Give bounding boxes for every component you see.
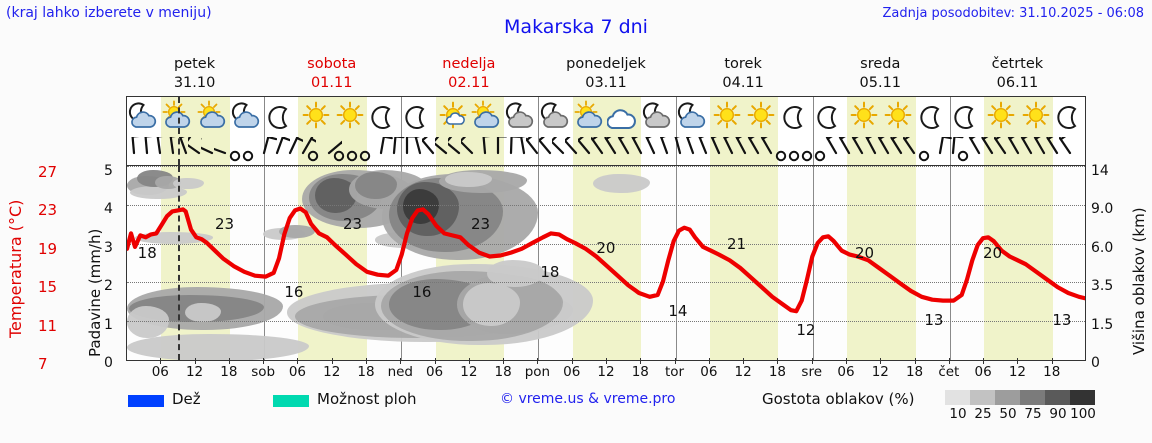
sun-icon	[744, 100, 778, 134]
axis-tick-label: 27	[38, 163, 78, 181]
cloud-density-band	[970, 390, 995, 405]
moon-icon	[1053, 100, 1087, 134]
cloud-density-tick-labels: 1025507590100	[945, 406, 1109, 422]
x-tick-label: 12	[452, 364, 486, 380]
cloud-density-band	[1020, 390, 1045, 405]
temperature-value-label: 23	[215, 215, 234, 233]
sun-icon	[299, 100, 333, 134]
x-tick-mark	[1052, 358, 1053, 364]
x-tick-mark	[503, 358, 504, 364]
temperature-curve	[127, 166, 1086, 361]
day-name: četrtek	[949, 55, 1086, 74]
day-header-2: sobota01.11	[263, 55, 400, 93]
x-tick-label: 18	[760, 364, 794, 380]
axis-tick-label: 3.5	[1091, 278, 1131, 294]
day-header-6: sreda05.11	[812, 55, 949, 93]
day-date: 04.11	[675, 74, 812, 93]
sun-icon	[1019, 100, 1053, 134]
day-date: 31.10	[126, 74, 263, 93]
x-tick-mark	[812, 358, 813, 364]
x-tick-mark	[366, 358, 367, 364]
axis-tick-label: 1.5	[1091, 317, 1131, 333]
temperature-value-label: 23	[471, 215, 490, 233]
x-tick-mark	[709, 358, 710, 364]
x-tick-label: 18	[486, 364, 520, 380]
cloud-density-tick-label: 10	[944, 406, 972, 422]
temperature-value-label: 12	[796, 321, 815, 339]
moon-cloud-grey-icon	[641, 100, 675, 134]
temperature-value-label: 18	[540, 263, 559, 281]
temperature-value-label: 16	[284, 283, 303, 301]
moon-icon	[813, 100, 847, 134]
x-tick-mark	[537, 358, 538, 364]
x-tick-mark	[880, 358, 881, 364]
sun-icon	[881, 100, 915, 134]
axis-tick-label: 7	[38, 355, 78, 373]
cloud-density-tick-label: 25	[969, 406, 997, 422]
sun-icon	[847, 100, 881, 134]
x-tick-label: sob	[246, 364, 280, 380]
day-date: 05.11	[812, 74, 949, 93]
day-name: sreda	[812, 55, 949, 74]
moon-cloud-icon	[127, 100, 161, 134]
temperature-value-label: 23	[343, 215, 362, 233]
moon-icon	[401, 100, 435, 134]
sun-icon	[333, 100, 367, 134]
x-tick-label: tor	[658, 364, 692, 380]
temperature-value-label: 13	[924, 311, 943, 329]
temperature-value-label: 20	[596, 239, 615, 257]
axis-tick-label: 2	[104, 278, 144, 294]
x-tick-label: čet	[932, 364, 966, 380]
temperature-value-label: 13	[1052, 311, 1071, 329]
rain-legend-swatch	[128, 395, 164, 407]
day-header-4: ponedeljek03.11	[537, 55, 674, 93]
wind-barb-icon	[1059, 137, 1083, 165]
temperature-value-label: 20	[983, 244, 1002, 262]
x-tick-mark	[195, 358, 196, 364]
day-date: 02.11	[400, 74, 537, 93]
day-header-row: petek31.10sobota01.11nedelja02.11ponedel…	[126, 55, 1086, 96]
x-tick-label: 18	[898, 364, 932, 380]
x-tick-label: pon	[520, 364, 554, 380]
moon-icon	[779, 100, 813, 134]
axis-tick-label: 4	[104, 201, 144, 217]
day-date: 03.11	[537, 74, 674, 93]
x-tick-mark	[160, 358, 161, 364]
cloud-density-band	[945, 390, 970, 405]
x-tick-label: 18	[212, 364, 246, 380]
axis-tick-label: 3	[104, 240, 144, 256]
axis-tick-label: 9.0	[1091, 201, 1131, 217]
day-name: petek	[126, 55, 263, 74]
last-updated-label: Zadnja posodobitev: 31.10.2025 - 06:08	[882, 6, 1144, 21]
x-tick-mark	[777, 358, 778, 364]
sun-icon	[710, 100, 744, 134]
sun-icon	[984, 100, 1018, 134]
x-axis-tick-labels: 061218sob061218ned061218pon061218tor0612…	[126, 364, 1086, 382]
sun-smallcloud-icon	[436, 100, 470, 134]
day-name: ponedeljek	[537, 55, 674, 74]
axis-tick-label: 1	[104, 317, 144, 333]
day-header-5: torek04.11	[675, 55, 812, 93]
x-tick-label: 12	[589, 364, 623, 380]
x-tick-label: 06	[555, 364, 589, 380]
x-tick-label: 06	[143, 364, 177, 380]
x-tick-mark	[743, 358, 744, 364]
cloud-density-band	[995, 390, 1020, 405]
x-tick-mark	[435, 358, 436, 364]
x-tick-mark	[606, 358, 607, 364]
axis-tick-label: 15	[38, 278, 78, 296]
credit-link[interactable]: © vreme.us & vreme.pro	[500, 391, 675, 407]
sun-cloud-icon	[196, 100, 230, 134]
cloud-density-legend-title: Gostota oblakov (%)	[762, 390, 915, 408]
x-tick-mark	[915, 358, 916, 364]
cloud-density-tick-label: 100	[1069, 406, 1097, 422]
axis-tick-label: 11	[38, 317, 78, 335]
x-tick-label: 06	[418, 364, 452, 380]
precipitation-axis-title: Padavine (mm/h)	[86, 172, 104, 357]
axis-tick-label: 23	[38, 201, 78, 219]
day-name: sobota	[263, 55, 400, 74]
day-date: 06.11	[949, 74, 1086, 93]
day-name: torek	[675, 55, 812, 74]
temperature-value-label: 16	[412, 283, 431, 301]
x-tick-mark	[297, 358, 298, 364]
day-header-1: petek31.10	[126, 55, 263, 93]
cloud-density-color-ramp	[945, 390, 1095, 405]
sun-cloud-icon	[573, 100, 607, 134]
cloud-height-axis-title: Višina oblakov (km)	[1130, 170, 1148, 355]
moon-cloud-icon	[676, 100, 710, 134]
sun-cloud-icon	[470, 100, 504, 134]
cloud-density-tick-label: 50	[994, 406, 1022, 422]
cloud-density-band	[1070, 390, 1095, 405]
axis-tick-label: 0	[1091, 355, 1131, 371]
x-tick-label: 18	[349, 364, 383, 380]
moon-icon	[264, 100, 298, 134]
moon-cloud-icon	[230, 100, 264, 134]
axis-tick-label: 19	[38, 240, 78, 258]
moon-icon	[916, 100, 950, 134]
x-tick-label: 12	[315, 364, 349, 380]
x-tick-label: 18	[1035, 364, 1069, 380]
x-tick-mark	[675, 358, 676, 364]
temperature-value-label: 20	[855, 244, 874, 262]
x-tick-mark	[572, 358, 573, 364]
x-tick-label: 06	[280, 364, 314, 380]
x-tick-label: 06	[966, 364, 1000, 380]
axis-tick-label: 6.0	[1091, 240, 1131, 256]
moon-cloud-grey-icon	[504, 100, 538, 134]
x-tick-label: sre	[795, 364, 829, 380]
x-tick-label: 12	[726, 364, 760, 380]
x-tick-label: 12	[1000, 364, 1034, 380]
x-tick-mark	[640, 358, 641, 364]
x-tick-mark	[1017, 358, 1018, 364]
x-tick-label: 18	[623, 364, 657, 380]
weather-icon-band	[126, 96, 1086, 166]
x-tick-label: 12	[178, 364, 212, 380]
x-tick-label: 12	[863, 364, 897, 380]
x-tick-mark	[949, 358, 950, 364]
x-tick-label: 06	[829, 364, 863, 380]
x-tick-label: 06	[692, 364, 726, 380]
cloud-density-tick-label: 75	[1019, 406, 1047, 422]
showers-legend-label: Možnost ploh	[317, 390, 417, 408]
legend: Dež Možnost ploh © vreme.us & vreme.pro …	[0, 386, 1152, 426]
x-tick-mark	[229, 358, 230, 364]
moon-icon	[367, 100, 401, 134]
axis-tick-label: 14	[1091, 163, 1131, 179]
moon-cloud-grey-icon	[539, 100, 573, 134]
x-tick-mark	[469, 358, 470, 364]
day-date: 01.11	[263, 74, 400, 93]
x-tick-mark	[983, 358, 984, 364]
x-tick-mark	[846, 358, 847, 364]
rain-legend-label: Dež	[172, 390, 201, 408]
x-tick-mark	[400, 358, 401, 364]
x-tick-mark	[263, 358, 264, 364]
axis-tick-label: 5	[104, 163, 144, 179]
day-header-3: nedelja02.11	[400, 55, 537, 93]
temperature-value-label: 14	[668, 302, 687, 320]
current-time-marker	[178, 97, 180, 165]
day-header-7: četrtek06.11	[949, 55, 1086, 93]
forecast-graph: 182316231623182014211220132013	[126, 166, 1086, 361]
showers-legend-swatch	[273, 395, 309, 407]
x-tick-mark	[332, 358, 333, 364]
cloud-density-band	[1045, 390, 1070, 405]
cloud-density-tick-label: 90	[1044, 406, 1072, 422]
x-tick-label: ned	[383, 364, 417, 380]
day-name: nedelja	[400, 55, 537, 74]
temperature-value-label: 21	[727, 235, 746, 253]
cloud-icon	[607, 100, 641, 134]
temperature-axis-title: Temperatura (°C)	[6, 168, 25, 338]
moon-icon	[950, 100, 984, 134]
